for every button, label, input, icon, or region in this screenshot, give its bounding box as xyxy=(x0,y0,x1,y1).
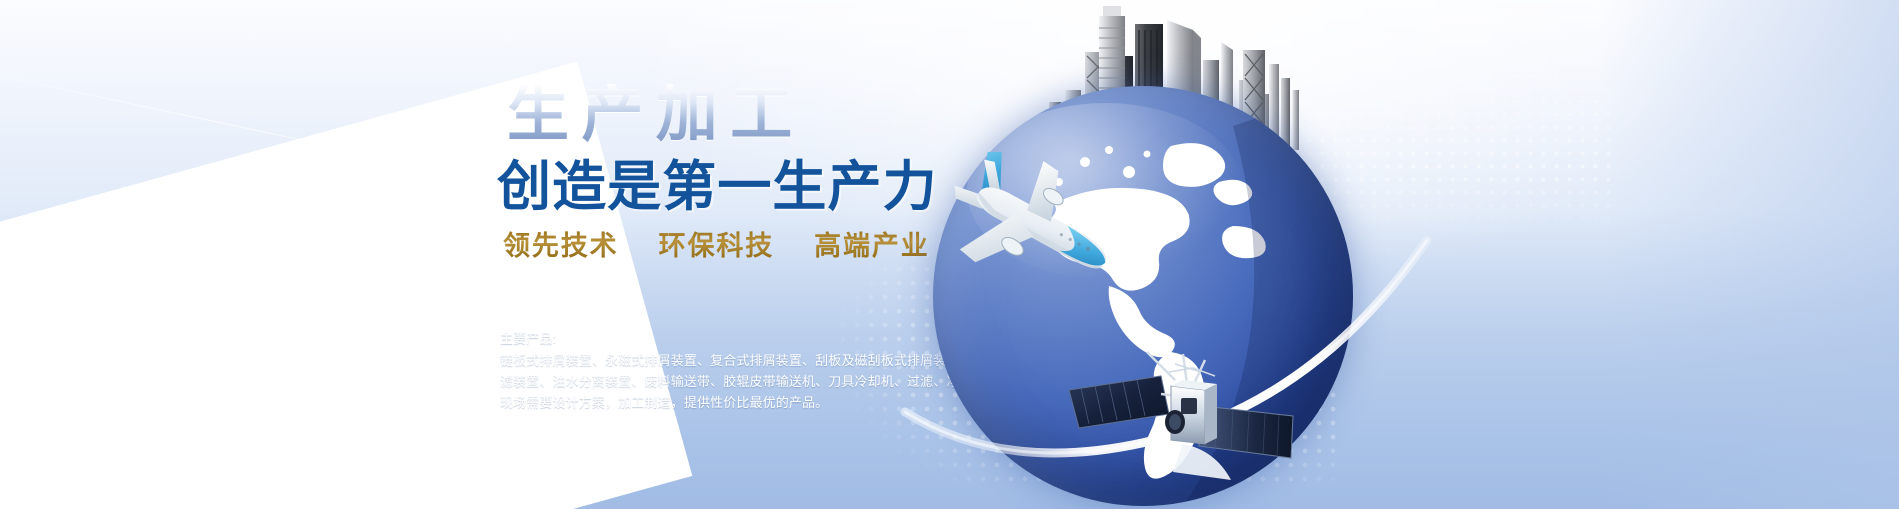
tagline-item-3: 高端产业 xyxy=(814,224,930,263)
satellite-icon xyxy=(1065,324,1295,504)
globe-scene xyxy=(915,0,1615,509)
promo-banner: 生产加工 创造是第一生产力 领先技术 环保科技 高端产业 主要产品: 链板式排屑… xyxy=(0,0,1899,509)
airplane-icon xyxy=(937,152,1117,312)
tagline-item-1: 领先技术 xyxy=(503,224,619,263)
tagline-item-2: 环保科技 xyxy=(659,224,775,263)
